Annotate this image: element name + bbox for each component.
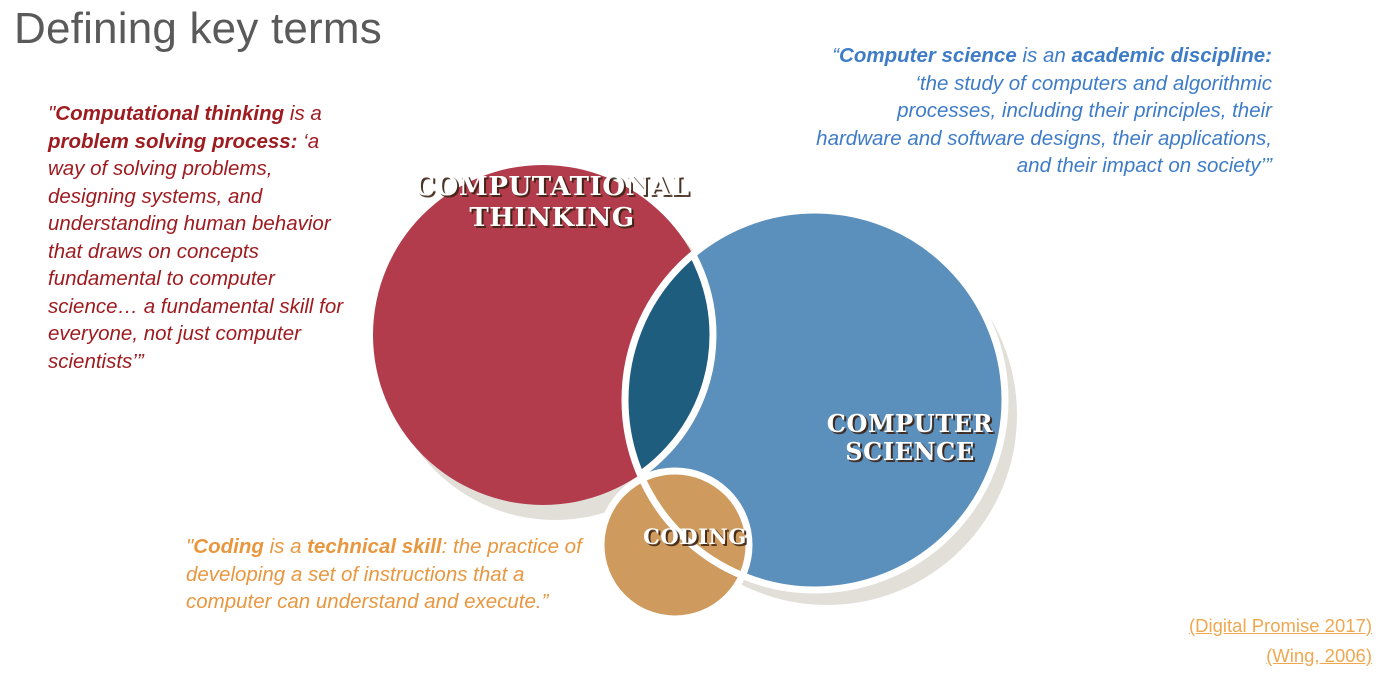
quote-term: Computer science (839, 44, 1017, 67)
quote-term: Coding (193, 535, 264, 558)
citation-row: (Wing, 2006) (1052, 642, 1372, 672)
quote-body: ‘the study of computers and algorithmic … (816, 72, 1272, 178)
quote-body: ‘a way of solving problems, designing sy… (48, 130, 343, 373)
citation-list: (Digital Promise 2017) (Wing, 2006) (1052, 612, 1372, 672)
quote-definition-lead: academic discipline: (1071, 44, 1272, 67)
quote-coding: "Coding is a technical skill: the practi… (186, 533, 606, 616)
citation-link-digital-promise[interactable]: (Digital Promise 2017) (1189, 615, 1372, 636)
citation-row: (Digital Promise 2017) (1052, 612, 1372, 642)
quote-term: Computational thinking (55, 102, 284, 125)
slide-canvas: Defining key terms (0, 0, 1384, 676)
quote-computer-science: “Computer science is an academic discipl… (812, 42, 1272, 180)
quote-computational-thinking: "Computational thinking is a problem sol… (48, 100, 348, 375)
quote-open-quote: “ (832, 44, 839, 67)
page-title: Defining key terms (14, 2, 382, 56)
citation-link-wing[interactable]: (Wing, 2006) (1266, 645, 1372, 666)
quote-definition-lead: problem solving process: (48, 130, 297, 153)
quote-connector: is a (264, 535, 307, 558)
quote-connector: is a (284, 102, 322, 125)
quote-definition-lead: technical skill (307, 535, 441, 558)
quote-connector: is an (1017, 44, 1072, 67)
